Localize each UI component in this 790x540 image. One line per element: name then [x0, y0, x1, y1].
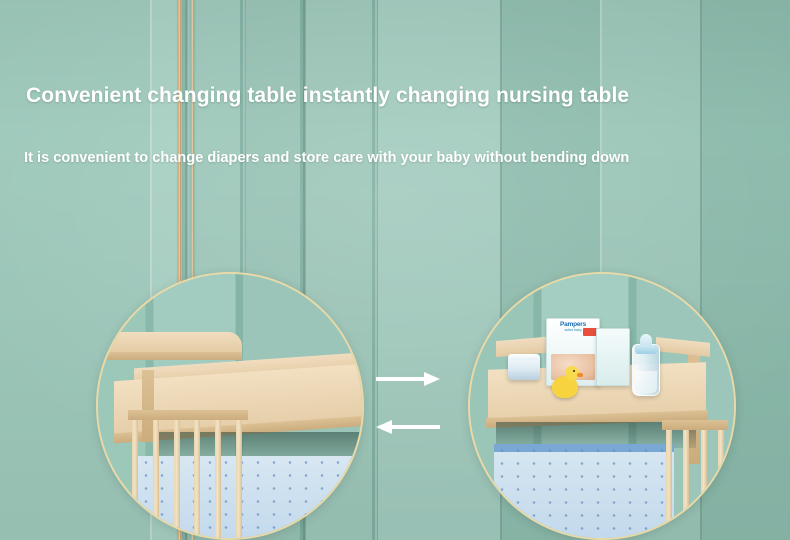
- crib-slat: [666, 424, 672, 534]
- diaper-box-badge: [583, 328, 597, 336]
- crib-slat: [194, 414, 200, 540]
- rubber-duck: [552, 376, 578, 398]
- crib-rail-top: [128, 410, 248, 420]
- bottle-collar: [635, 345, 657, 354]
- crib-headboard-edge: [96, 352, 242, 360]
- crib-slat: [153, 414, 159, 540]
- callout-circle-right: Pampers active baby: [468, 272, 736, 540]
- page-subtitle: It is convenient to change diapers and s…: [24, 150, 629, 166]
- wall-panel-line: [375, 0, 377, 540]
- callout-left-scene: [98, 274, 362, 538]
- crib-slat: [718, 424, 724, 534]
- crib-slats: [132, 414, 242, 540]
- crib-mattress: [494, 444, 674, 538]
- callout-circle-left: [96, 272, 364, 540]
- crib-slat: [701, 424, 707, 534]
- baby-bottle: [632, 344, 660, 396]
- page-title: Convenient changing table instantly chan…: [26, 84, 629, 108]
- arrow-right-icon: [376, 372, 440, 386]
- crib-slats: [666, 424, 724, 534]
- crib-slat: [683, 424, 689, 534]
- duck-eye: [573, 370, 575, 372]
- crib-slat: [236, 414, 242, 540]
- crib-slat: [174, 414, 180, 540]
- cream-tub-lid: [508, 354, 540, 360]
- arrow-left-icon: [376, 420, 440, 434]
- crib-slat: [132, 414, 138, 540]
- crib-rail-top: [662, 420, 728, 430]
- mattress-pattern: [494, 444, 674, 538]
- swap-arrows: [376, 372, 442, 444]
- crib-headboard: [96, 332, 242, 354]
- cream-tub: [508, 354, 540, 380]
- crib-slat: [215, 414, 221, 540]
- mattress-stripe: [494, 444, 674, 452]
- wipes-box: [596, 328, 630, 386]
- bottle-liquid: [635, 371, 657, 393]
- duck-beak: [577, 373, 583, 377]
- diaper-box-brand: Pampers: [547, 321, 599, 328]
- promo-banner: Convenient changing table instantly chan…: [0, 0, 790, 540]
- callout-right-scene: Pampers active baby: [470, 274, 734, 538]
